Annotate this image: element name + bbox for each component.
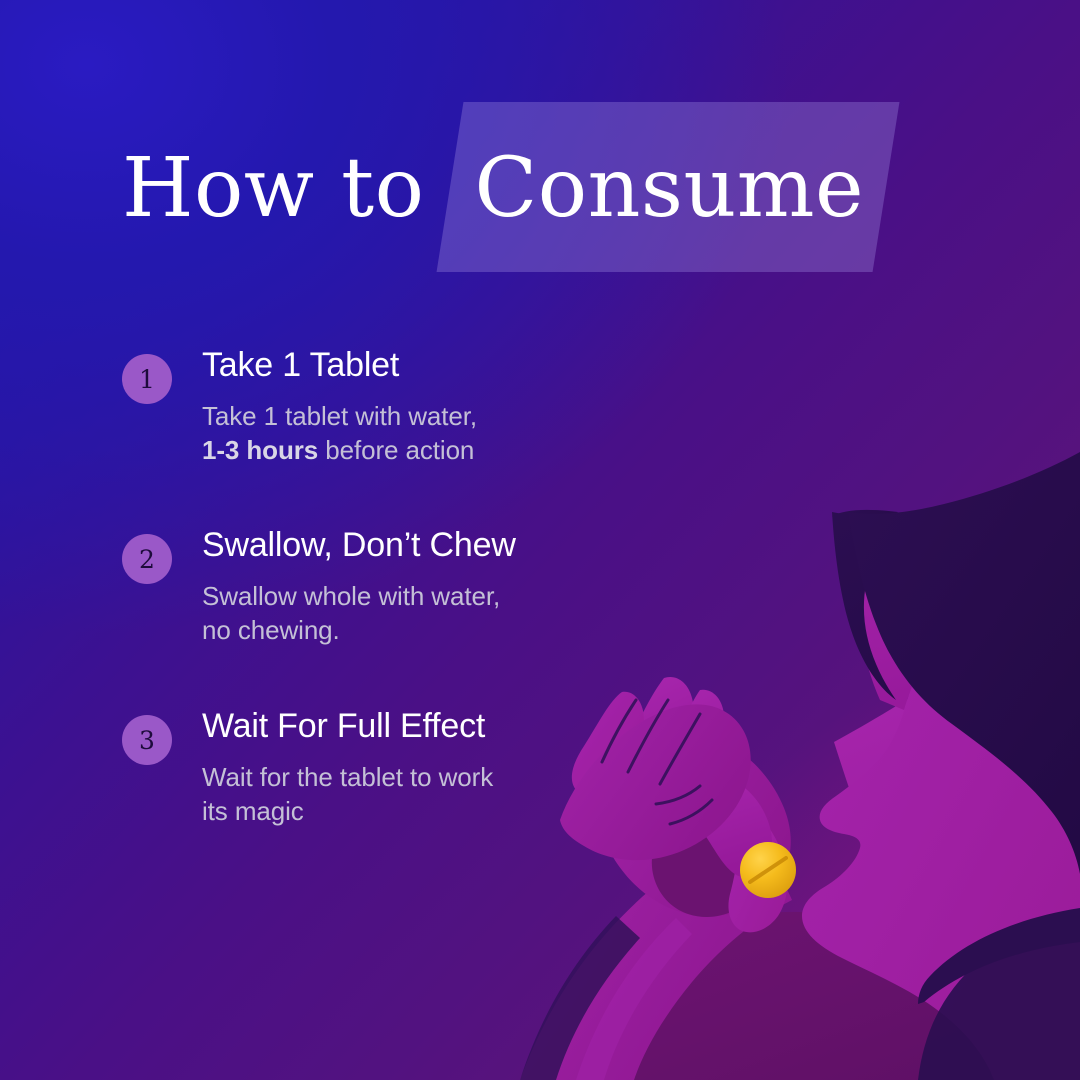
step-title-1: Take 1 Tablet <box>202 348 762 382</box>
step-desc-1-line1: Take 1 tablet with water, <box>202 401 477 431</box>
step-title-3: Wait For Full Effect <box>202 709 762 743</box>
step-badge-2: 2 <box>122 534 172 584</box>
step-badge-3: 3 <box>122 715 172 765</box>
steps-list: 1 Take 1 Tablet Take 1 tablet with water… <box>122 348 762 869</box>
list-item-step-2: 2 Swallow, Don’t Chew Swallow whole with… <box>122 528 762 709</box>
step-desc-1-bold: 1-3 hours <box>202 435 318 465</box>
step-body-1: Take 1 Tablet Take 1 tablet with water, … <box>202 348 762 468</box>
step-desc-3-line2: its magic <box>202 796 304 826</box>
title-part-2: Consume <box>474 141 864 236</box>
step-desc-3: Wait for the tablet to work its magic <box>202 760 762 829</box>
page-title: How to Consume <box>122 148 886 230</box>
list-item-step-3: 3 Wait For Full Effect Wait for the tabl… <box>122 709 762 869</box>
step-body-2: Swallow, Don’t Chew Swallow whole with w… <box>202 528 762 648</box>
poster-canvas: How to Consume 1 Take 1 Tablet Take 1 ta… <box>0 0 1080 1080</box>
title-highlight: Consume <box>450 148 886 230</box>
step-desc-3-line1: Wait for the tablet to work <box>202 762 493 792</box>
step-desc-1-line2: before action <box>318 435 474 465</box>
step-desc-2-line1: Swallow whole with water, <box>202 581 500 611</box>
title-part-1: How to <box>122 148 424 230</box>
step-body-3: Wait For Full Effect Wait for the tablet… <box>202 709 762 829</box>
step-badge-1: 1 <box>122 354 172 404</box>
step-desc-2-line2: no chewing. <box>202 615 340 645</box>
step-desc-1: Take 1 tablet with water, 1-3 hours befo… <box>202 399 762 468</box>
step-title-2: Swallow, Don’t Chew <box>202 528 762 562</box>
list-item-step-1: 1 Take 1 Tablet Take 1 tablet with water… <box>122 348 762 528</box>
step-desc-2: Swallow whole with water, no chewing. <box>202 579 762 648</box>
